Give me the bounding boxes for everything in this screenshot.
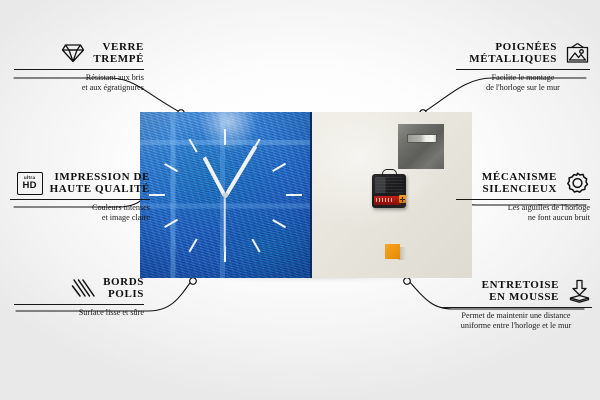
feature-divider — [10, 199, 150, 200]
clock-mechanism — [372, 174, 406, 208]
feature-title: VERRE TREMPÉ — [93, 41, 144, 66]
clock-second-hand — [224, 196, 226, 252]
feature-poignees-metalliques: POIGNÉES MÉTALLIQUES Facilite le montage… — [456, 40, 590, 93]
feature-subtitle: Les aiguilles de l'horloge ne font aucun… — [456, 203, 590, 223]
foam-spacer — [385, 244, 400, 259]
clock-back-panel — [312, 112, 472, 278]
feature-impression-haute-qualite: ultra HD IMPRESSION DE HAUTE QUALITÉ Cou… — [10, 170, 150, 223]
feature-mecanisme-silencieux: MÉCANISME SILENCIEUX Les aiguilles de l'… — [456, 170, 590, 223]
product-photo — [140, 112, 472, 278]
wall-mount-frame-icon — [564, 40, 590, 66]
clock-tick-12 — [224, 129, 226, 145]
feature-subtitle: Résistant aux bris et aux égratignures — [14, 73, 144, 93]
feature-title: POIGNÉES MÉTALLIQUES — [469, 41, 557, 66]
metal-hanger-plate — [398, 124, 444, 169]
polished-edges-icon — [70, 275, 96, 301]
feature-entretoise-en-mousse: ENTRETOISE EN MOUSSE Permet de maintenir… — [440, 278, 592, 331]
diamond-icon — [60, 40, 86, 66]
ultra-hd-icon: ultra HD — [17, 170, 43, 196]
feature-title: ENTRETOISE EN MOUSSE — [482, 279, 559, 304]
battery — [374, 196, 401, 205]
feature-title: BORDS POLIS — [103, 276, 144, 301]
foam-spacer-arrow-icon — [566, 278, 592, 304]
feature-divider — [14, 304, 144, 305]
feature-bords-polis: BORDS POLIS Surface lisse et sûre — [14, 275, 144, 318]
feature-divider — [440, 307, 592, 308]
feature-title: MÉCANISME SILENCIEUX — [482, 171, 557, 196]
feature-subtitle: Facilite le montage de l'horloge sur le … — [456, 73, 590, 93]
gear-icon — [564, 170, 590, 196]
clock-center-hub — [223, 193, 228, 198]
feature-verre-trempe: VERRE TREMPÉ Résistant aux bris et aux é… — [14, 40, 144, 93]
ultra-hd-icon-main-text: HD — [23, 181, 37, 191]
hanger-slot — [407, 134, 437, 143]
infographic-canvas: VERRE TREMPÉ Résistant aux bris et aux é… — [0, 0, 600, 400]
mechanism-face-detail — [375, 177, 403, 193]
feature-subtitle: Permet de maintenir une distance uniform… — [440, 311, 592, 331]
feature-title: IMPRESSION DE HAUTE QUALITÉ — [50, 171, 150, 196]
feature-subtitle: Couleurs intenses et image claire — [10, 203, 150, 223]
feature-subtitle: Surface lisse et sûre — [14, 308, 144, 318]
clock-front-panel — [140, 112, 310, 278]
feature-divider — [14, 69, 144, 70]
battery-label — [376, 198, 393, 202]
feature-divider — [456, 69, 590, 70]
battery-plus-terminal — [399, 195, 406, 203]
feature-divider — [456, 199, 590, 200]
